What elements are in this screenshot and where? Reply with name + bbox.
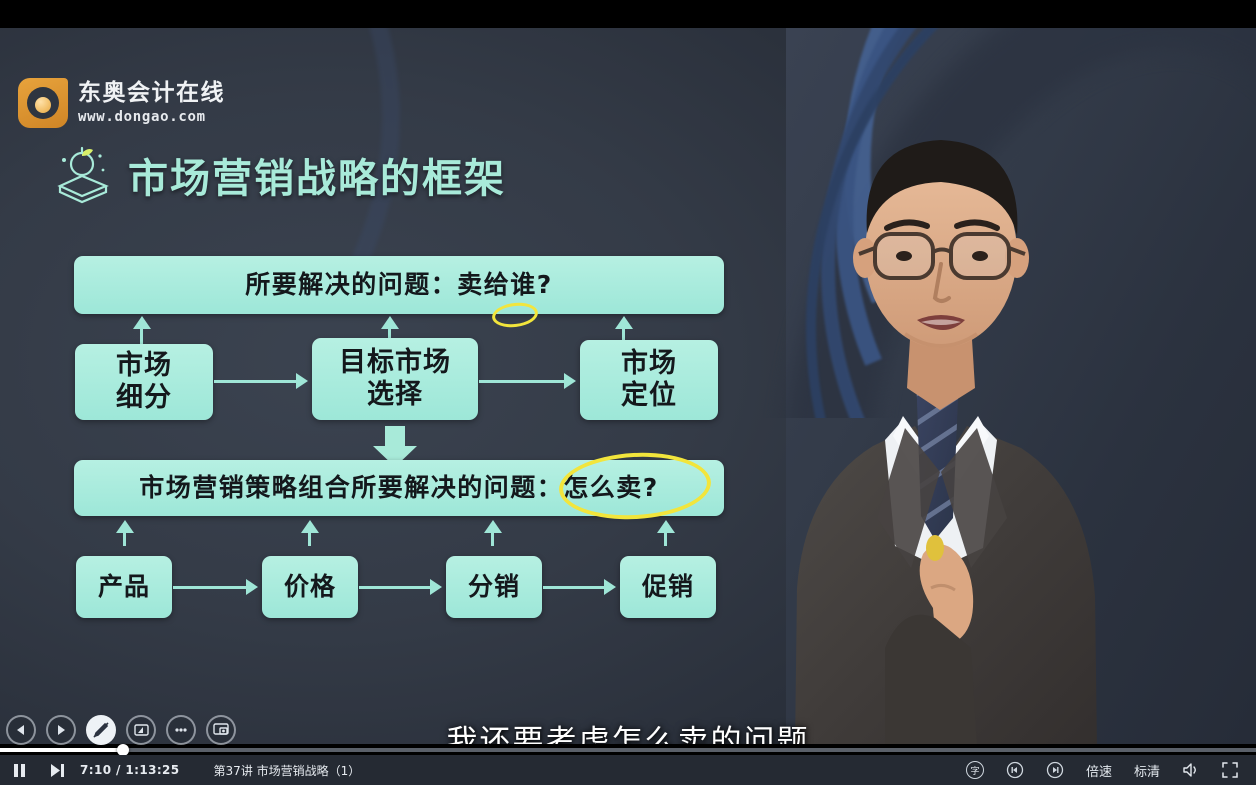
forward-button[interactable] [1046, 761, 1064, 779]
presenter-video [735, 48, 1155, 744]
connector-row2-2-head [564, 373, 576, 389]
brand-url: www.dongao.com [78, 110, 225, 124]
slide-title-text: 市场营销战略的框架 [128, 146, 506, 204]
diagram-node-band-top: 所要解决的问题：卖给谁? [74, 256, 724, 314]
triangle-right-icon [55, 724, 67, 736]
screenshot-button[interactable] [206, 715, 236, 745]
diagram-node-place: 分销 [446, 556, 542, 618]
more-tools-button[interactable] [166, 715, 196, 745]
ellipsis-icon [172, 721, 190, 739]
pause-icon [13, 763, 26, 778]
brand-logo-text: 东奥会计在线 www.dongao.com [78, 82, 225, 124]
prev-slide-button[interactable] [6, 715, 36, 745]
next-track-icon [50, 763, 65, 778]
subtitle-toggle[interactable]: 字 [966, 761, 984, 779]
diagram-node-price: 价格 [262, 556, 358, 618]
dongao-logo-mark [18, 78, 68, 128]
pen-icon [92, 721, 110, 739]
diagram-node-promotion: 促销 [620, 556, 716, 618]
connector-row2-2 [479, 380, 566, 383]
playback-speed-button[interactable]: 倍速 [1086, 761, 1112, 780]
connector-row4-1 [173, 586, 248, 589]
next-episode-button[interactable] [38, 755, 76, 785]
forward-15-icon [1046, 761, 1064, 779]
diagram-node-segmentation: 市场 细分 [75, 344, 213, 420]
screen-pointer-icon [133, 722, 150, 739]
connector-row4-2 [359, 586, 432, 589]
slide-title: 市场营销战略的框架 [52, 146, 506, 204]
progress-track[interactable] [0, 748, 1256, 752]
connector-up-6-head [484, 520, 502, 533]
lecture-title: 第37讲 市场营销战略（1） [214, 762, 361, 779]
rewind-button[interactable] [1006, 761, 1024, 779]
connector-up-5-head [301, 520, 319, 533]
triangle-left-icon [15, 724, 27, 736]
player-control-bar: 7:10 / 1:13:25 第37讲 市场营销战略（1） 字 [0, 755, 1256, 785]
connector-up-4-head [116, 520, 134, 533]
controls-right-group: 字 倍速 标清 [966, 761, 1256, 780]
subtitle-circle-icon: 字 [966, 761, 984, 779]
connector-row4-3-head [604, 579, 616, 595]
screen-capture-icon [212, 721, 230, 739]
controls-left-group: 7:10 / 1:13:25 第37讲 市场营销战略（1） [0, 755, 360, 785]
video-player: 东奥会计在线 www.dongao.com 市场营销战略的框架 [0, 0, 1256, 785]
diagram-node-targeting: 目标市场 选择 [312, 338, 478, 420]
apple-on-books-icon [52, 146, 114, 204]
video-stage[interactable]: 东奥会计在线 www.dongao.com 市场营销战略的框架 [0, 28, 1256, 744]
connector-row2-1-head [296, 373, 308, 389]
volume-button[interactable] [1182, 762, 1200, 778]
connector-up-3-head [615, 316, 633, 329]
fullscreen-button[interactable] [1222, 762, 1238, 778]
fullscreen-icon [1222, 762, 1238, 778]
pen-tool-button[interactable] [86, 715, 116, 745]
laser-pointer-button[interactable] [126, 715, 156, 745]
connector-row4-1-head [246, 579, 258, 595]
rewind-15-icon [1006, 761, 1024, 779]
diagram-node-positioning: 市场 定位 [580, 340, 718, 420]
speaker-icon [1182, 762, 1200, 778]
brand-logo: 东奥会计在线 www.dongao.com [18, 78, 225, 128]
video-quality-button[interactable]: 标清 [1134, 761, 1160, 780]
letterbox-top [0, 0, 1256, 28]
pause-button[interactable] [0, 755, 38, 785]
diagram-node-product: 产品 [76, 556, 172, 618]
connector-up-7-head [657, 520, 675, 533]
connector-row4-3 [543, 586, 605, 589]
connector-up-1-head [133, 316, 151, 329]
brand-name: 东奥会计在线 [78, 82, 225, 105]
connector-row4-2-head [430, 579, 442, 595]
progress-fill [0, 748, 123, 752]
next-slide-button[interactable] [46, 715, 76, 745]
connector-up-2-head [381, 316, 399, 329]
progress-bar[interactable] [0, 745, 1256, 755]
time-display: 7:10 / 1:13:25 [80, 763, 180, 777]
presenter-figure [735, 48, 1155, 744]
pen-cap [926, 535, 944, 561]
annotation-toolbar [6, 716, 236, 744]
connector-row2-1 [214, 380, 298, 383]
